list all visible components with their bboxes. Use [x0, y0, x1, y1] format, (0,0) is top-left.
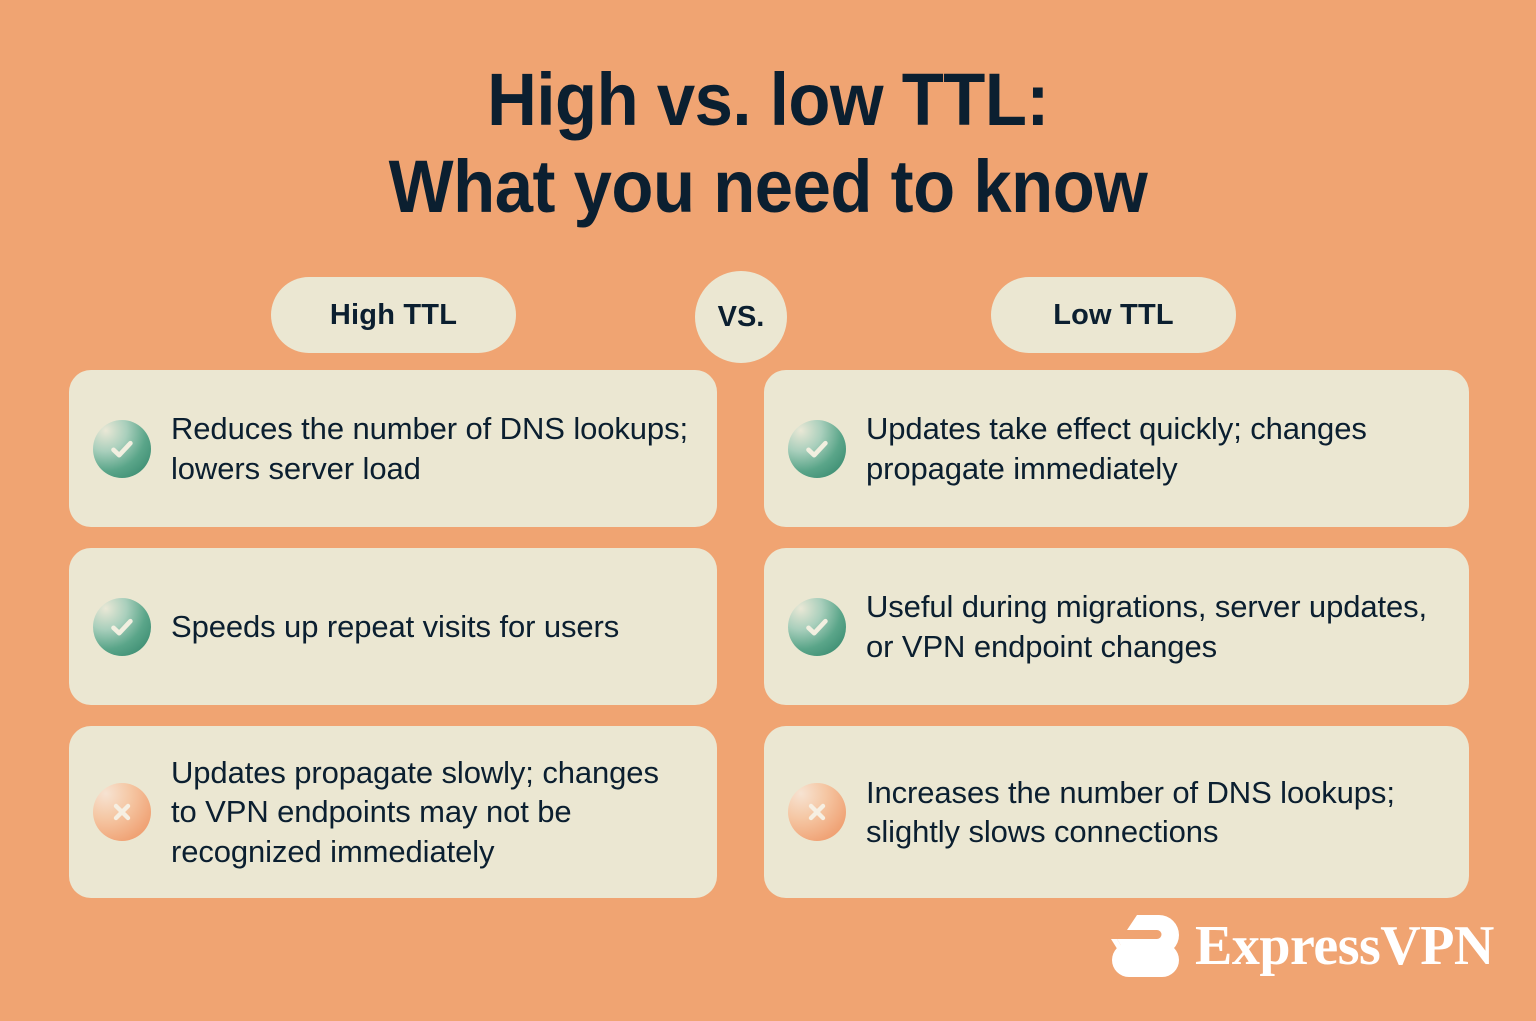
versus-badge-label: VS. — [718, 301, 765, 334]
page-title-line-1: High vs. low TTL: — [54, 56, 1482, 143]
list-item: Speeds up repeat visits for users — [69, 548, 717, 705]
list-item-text: Speeds up repeat visits for users — [171, 607, 619, 646]
cross-icon — [788, 783, 846, 841]
list-item-text: Useful during migrations, server updates… — [866, 587, 1443, 665]
list-item-text: Updates propagate slowly; changes to VPN… — [171, 753, 691, 870]
expressvpn-e-mark-icon — [1107, 913, 1181, 979]
comparison-header-row: High TTL VS. Low TTL — [0, 277, 1536, 355]
list-item-text: Reduces the number of DNS lookups; lower… — [171, 409, 691, 487]
column-low-ttl: Updates take effect quickly; changes pro… — [764, 370, 1469, 898]
check-icon — [93, 598, 151, 656]
expressvpn-wordmark: ExpressVPN — [1195, 918, 1494, 974]
header-pill-low-ttl: Low TTL — [991, 277, 1236, 353]
comparison-columns: Reduces the number of DNS lookups; lower… — [69, 370, 1469, 898]
header-pill-high-ttl-label: High TTL — [330, 299, 457, 332]
list-item-text: Updates take effect quickly; changes pro… — [866, 409, 1443, 487]
versus-badge: VS. — [695, 271, 787, 363]
page-title: High vs. low TTL: What you need to know — [54, 56, 1482, 231]
list-item-text: Increases the number of DNS lookups; sli… — [866, 773, 1443, 851]
check-icon — [788, 598, 846, 656]
expressvpn-logo: ExpressVPN — [1107, 913, 1494, 979]
page-title-line-2: What you need to know — [54, 143, 1482, 230]
header-pill-low-ttl-label: Low TTL — [1053, 299, 1174, 332]
list-item: Reduces the number of DNS lookups; lower… — [69, 370, 717, 527]
list-item: Useful during migrations, server updates… — [764, 548, 1469, 705]
list-item: Increases the number of DNS lookups; sli… — [764, 726, 1469, 898]
header-pill-high-ttl: High TTL — [271, 277, 516, 353]
cross-icon — [93, 783, 151, 841]
column-high-ttl: Reduces the number of DNS lookups; lower… — [69, 370, 717, 898]
list-item: Updates take effect quickly; changes pro… — [764, 370, 1469, 527]
infographic-canvas: High vs. low TTL: What you need to know … — [0, 0, 1536, 1021]
list-item: Updates propagate slowly; changes to VPN… — [69, 726, 717, 898]
check-icon — [788, 420, 846, 478]
check-icon — [93, 420, 151, 478]
